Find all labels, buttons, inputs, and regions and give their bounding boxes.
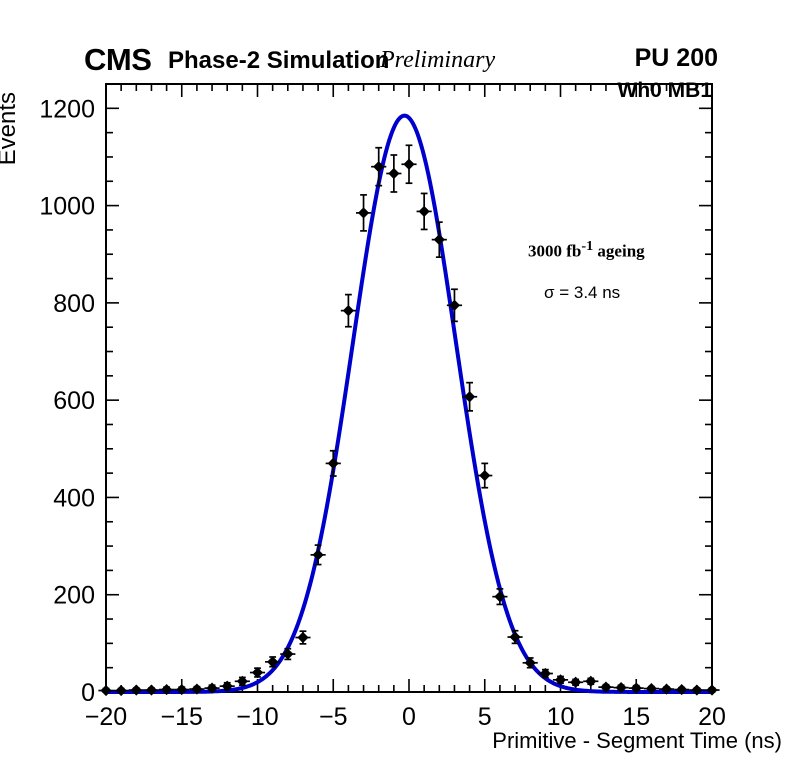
data-point	[507, 631, 522, 644]
marker-filled-diamond	[343, 305, 354, 316]
y-axis-ticks: 020040060080010001200	[39, 95, 712, 707]
marker-filled-diamond	[479, 470, 490, 481]
data-series-points	[98, 145, 719, 696]
data-point	[538, 668, 553, 679]
data-point	[356, 195, 371, 231]
data-point	[295, 631, 310, 644]
marker-filled-diamond	[313, 549, 324, 560]
marker-filled-diamond	[297, 632, 308, 643]
x-tick-label: 10	[547, 703, 575, 731]
data-point	[98, 685, 113, 696]
marker-filled-diamond	[570, 677, 581, 688]
marker-filled-diamond	[252, 667, 263, 678]
chart-plot-area: −20−15−10−505101520020040060080010001200	[0, 0, 796, 772]
y-tick-label: 0	[81, 679, 95, 707]
y-tick-label: 1200	[39, 95, 95, 123]
x-tick-label: −10	[236, 703, 278, 731]
marker-filled-diamond	[100, 685, 111, 696]
marker-filled-diamond	[116, 685, 127, 696]
marker-filled-diamond	[328, 458, 339, 469]
x-tick-label: −15	[161, 703, 203, 731]
x-tick-label: −5	[319, 703, 348, 731]
y-tick-label: 200	[53, 582, 95, 610]
data-point	[386, 155, 401, 192]
data-point	[114, 685, 129, 696]
marker-filled-diamond	[585, 676, 596, 687]
x-tick-label: 5	[478, 703, 492, 731]
x-tick-label: −20	[85, 703, 127, 731]
data-point	[311, 545, 326, 564]
data-point	[341, 295, 356, 327]
x-tick-label: 0	[402, 703, 416, 731]
y-tick-label: 1000	[39, 193, 95, 221]
gaussian-fit-curve	[106, 116, 711, 692]
marker-filled-diamond	[403, 159, 414, 170]
marker-filled-diamond	[434, 234, 445, 245]
marker-filled-diamond	[419, 206, 430, 217]
x-tick-label: 15	[622, 703, 650, 731]
plot-canvas: CMS Phase-2 Simulation Preliminary PU 20…	[0, 0, 796, 772]
data-point	[401, 145, 416, 183]
data-point	[432, 222, 447, 257]
data-point	[583, 676, 598, 687]
data-point	[417, 193, 432, 229]
data-point	[326, 451, 341, 476]
y-tick-label: 600	[53, 387, 95, 415]
data-point	[568, 677, 583, 688]
x-axis-ticks: −20−15−10−505101520	[85, 84, 726, 731]
y-tick-label: 400	[53, 484, 95, 512]
x-tick-label: 20	[698, 703, 726, 731]
marker-filled-diamond	[388, 168, 399, 179]
marker-filled-diamond	[358, 207, 369, 218]
y-tick-label: 800	[53, 290, 95, 318]
